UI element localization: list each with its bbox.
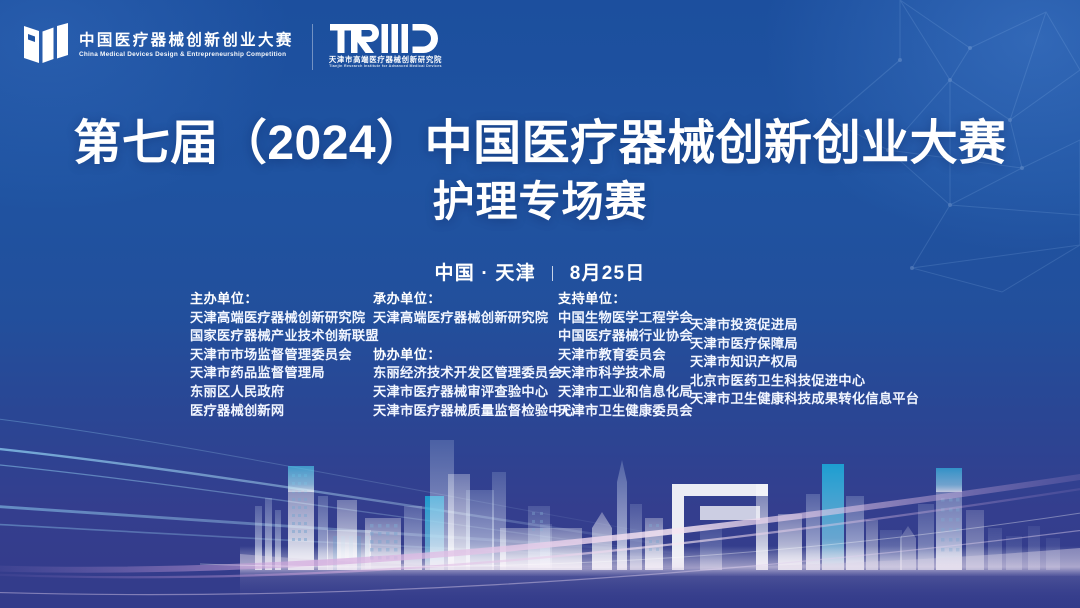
organizer-item: 天津高端医疗器械创新研究院 xyxy=(373,309,575,328)
institute-logo: 天津市高端医疗器械创新研究院 Tianjin Research Institut… xyxy=(329,22,442,69)
subtitle-location: 中国 · 天津 xyxy=(435,263,536,284)
supporter-header: 支持单位： xyxy=(558,290,693,309)
subtitle-separator xyxy=(552,266,553,281)
column-spacer xyxy=(373,327,575,346)
supporter-item: 天津市医疗保障局 xyxy=(690,335,919,354)
supporter-item: 中国医疗器械行业协会 xyxy=(558,327,693,346)
poster-canvas: 中国医疗器械创新创业大赛 China Medical Devices Desig… xyxy=(0,0,1080,608)
host-column: 主办单位： 天津高端医疗器械创新研究院 国家医疗器械产业技术创新联盟 天津市市场… xyxy=(190,290,379,420)
title-line-2: 护理专场赛 xyxy=(0,179,1080,225)
co-organizer-header: 协办单位： xyxy=(373,346,575,365)
supporter-column-b: 天津市投资促进局 天津市医疗保障局 天津市知识产权局 北京市医药卫生科技促进中心… xyxy=(690,316,919,409)
logo-divider xyxy=(312,24,313,70)
supporter-item: 天津市卫生健康科技成果转化信息平台 xyxy=(690,390,919,409)
subtitle-location-date: 中国 · 天津 8月25日 xyxy=(0,258,1080,285)
supporter-item: 天津市投资促进局 xyxy=(690,316,919,335)
supporter-item: 天津市科学技术局 xyxy=(558,364,693,383)
subtitle-date: 8月25日 xyxy=(570,263,646,284)
organizer-column: 承办单位： 天津高端医疗器械创新研究院 协办单位： 东丽经济技术开发区管理委员会… xyxy=(373,290,575,420)
purple-light-streaks xyxy=(0,474,1080,595)
skyline-haze xyxy=(240,546,1080,576)
institute-logo-en: Tianjin Research Institute for Advanced … xyxy=(329,65,442,69)
supporter-column-a: 支持单位： 中国生物医学工程学会 中国医疗器械行业协会 天津市教育委员会 天津市… xyxy=(558,290,693,420)
trimd-wordmark-icon xyxy=(330,23,440,54)
supporter-item: 中国生物医学工程学会 xyxy=(558,309,693,328)
co-organizer-item: 东丽经济技术开发区管理委员会 xyxy=(373,364,575,383)
supporter-item: 天津市教育委员会 xyxy=(558,346,693,365)
host-item: 国家医疗器械产业技术创新联盟 xyxy=(190,327,379,346)
co-organizer-item: 天津市医疗器械质量监督检验中心 xyxy=(373,402,575,421)
header-logos: 中国医疗器械创新创业大赛 China Medical Devices Desig… xyxy=(22,22,442,70)
supporter-item: 天津市工业和信息化局 xyxy=(558,383,693,402)
host-item: 天津高端医疗器械创新研究院 xyxy=(190,309,379,328)
ground-haze xyxy=(240,548,1080,608)
poster-title: 第七届（2024）中国医疗器械创新创业大赛 护理专场赛 xyxy=(0,118,1080,225)
competition-logo: 中国医疗器械创新创业大赛 China Medical Devices Desig… xyxy=(22,22,294,66)
competition-logo-cn: 中国医疗器械创新创业大赛 xyxy=(79,33,294,49)
title-line-1: 第七届（2024）中国医疗器械创新创业大赛 xyxy=(0,118,1080,170)
co-organizer-item: 天津市医疗器械审评查验中心 xyxy=(373,383,575,402)
host-item: 天津市药品监督管理局 xyxy=(190,364,379,383)
supporter-item: 北京市医药卫生科技促进中心 xyxy=(690,372,919,391)
supporter-item: 天津市知识产权局 xyxy=(690,353,919,372)
host-item: 医疗器械创新网 xyxy=(190,402,379,421)
supporter-item: 天津市卫生健康委员会 xyxy=(558,402,693,421)
host-item: 天津市市场监督管理委员会 xyxy=(190,346,379,365)
city-skyline xyxy=(255,440,1060,570)
institute-logo-cn: 天津市高端医疗器械创新研究院 xyxy=(329,56,442,63)
competition-logo-en: China Medical Devices Design & Entrepren… xyxy=(79,52,294,58)
host-item: 东丽区人民政府 xyxy=(190,383,379,402)
host-header: 主办单位： xyxy=(190,290,379,309)
left-light-streaks xyxy=(0,418,740,560)
open-door-book-icon xyxy=(22,22,70,66)
organizer-lists: 主办单位： 天津高端医疗器械创新研究院 国家医疗器械产业技术创新联盟 天津市市场… xyxy=(0,290,1080,425)
organizer-header: 承办单位： xyxy=(373,290,575,309)
